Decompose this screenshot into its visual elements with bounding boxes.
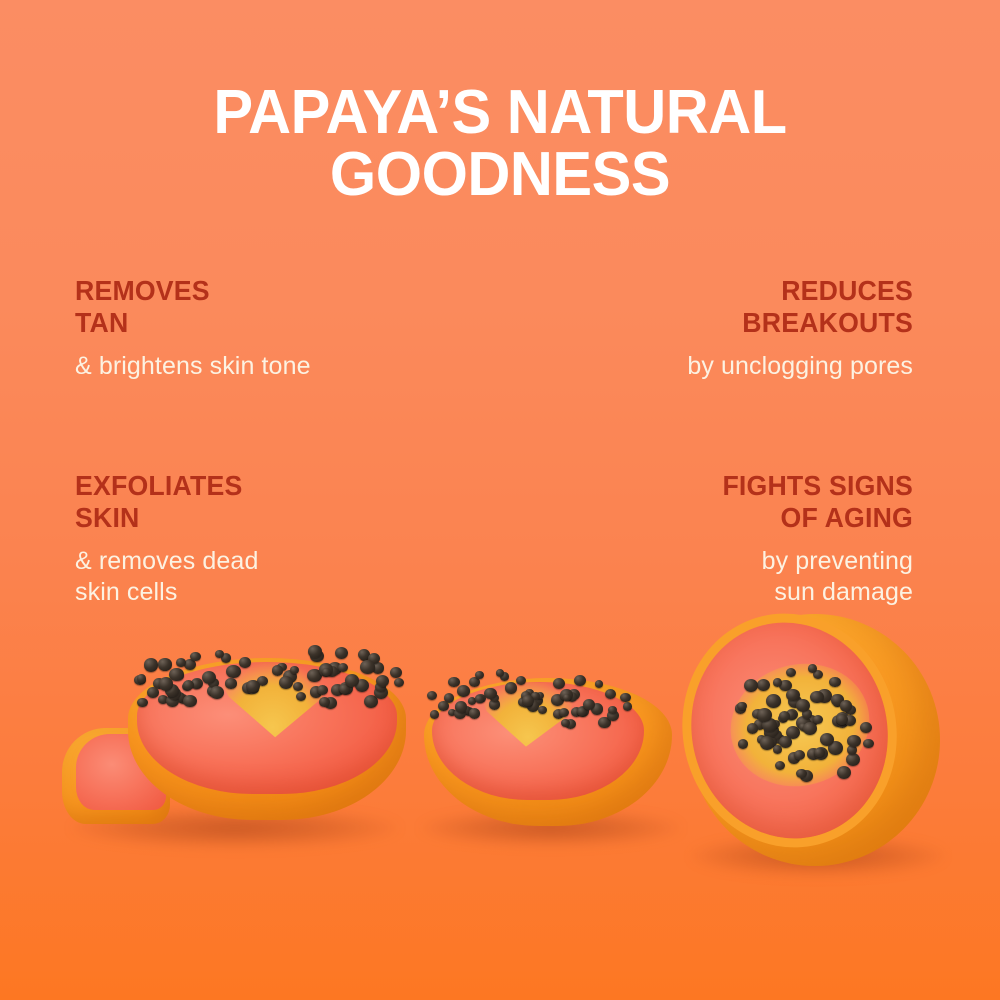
papaya-imagery — [0, 640, 1000, 1000]
papaya-seed — [176, 658, 186, 667]
benefit-reduces-breakouts: REDUCES BREAKOUTS by unclogging pores — [539, 275, 913, 382]
papaya-seed — [394, 678, 404, 687]
benefit-heading: REDUCES BREAKOUTS — [550, 275, 913, 339]
papaya-seed — [500, 672, 509, 680]
papaya-seed — [372, 662, 384, 673]
papaya-half — [690, 614, 940, 866]
poster-canvas: PAPAYA’S NATURAL GOODNESS REMOVES TAN & … — [0, 0, 1000, 1000]
papaya-seed — [360, 653, 369, 661]
benefit-removes-tan: REMOVES TAN & brightens skin tone — [75, 275, 449, 382]
papaya-seed — [134, 675, 146, 686]
papaya-seed — [448, 677, 460, 688]
papaya-seed — [360, 660, 375, 674]
papaya-seed — [137, 674, 147, 683]
benefit-heading: EXFOLIATES SKIN — [75, 470, 438, 534]
papaya-seed — [368, 653, 380, 664]
papaya-seed — [308, 645, 322, 658]
papaya-seed — [144, 658, 158, 671]
benefit-subtext: & removes dead skin cells — [75, 546, 449, 608]
papaya-seed — [390, 667, 402, 678]
papaya-seed — [215, 650, 224, 658]
benefit-exfoliates-skin: EXFOLIATES SKIN & removes dead skin cell… — [75, 470, 449, 608]
papaya-seed — [158, 658, 171, 670]
benefit-heading: FIGHTS SIGNS OF AGING — [550, 470, 913, 534]
benefits-grid: REMOVES TAN & brightens skin tone REDUCE… — [75, 275, 913, 608]
benefit-subtext: & brightens skin tone — [75, 351, 449, 382]
papaya-wedge-large — [128, 658, 406, 820]
benefit-subtext: by unclogging pores — [539, 351, 913, 382]
title-line-2: GOODNESS — [20, 144, 980, 206]
benefit-subtext: by preventing sun damage — [539, 546, 913, 608]
papaya-seed — [358, 649, 370, 660]
title-line-1: PAPAYA’S NATURAL — [20, 82, 980, 144]
papaya-seed — [475, 671, 484, 679]
papaya-seed — [427, 691, 437, 700]
papaya-seed — [496, 669, 504, 676]
papaya-seed — [335, 647, 349, 660]
poster-title: PAPAYA’S NATURAL GOODNESS — [0, 82, 1000, 206]
papaya-seed — [190, 652, 200, 662]
benefit-heading: REMOVES TAN — [75, 275, 438, 339]
benefit-fights-signs-of-aging: FIGHTS SIGNS OF AGING by preventing sun … — [539, 470, 913, 608]
papaya-seed — [363, 662, 375, 673]
papaya-wedge-middle — [424, 678, 672, 826]
